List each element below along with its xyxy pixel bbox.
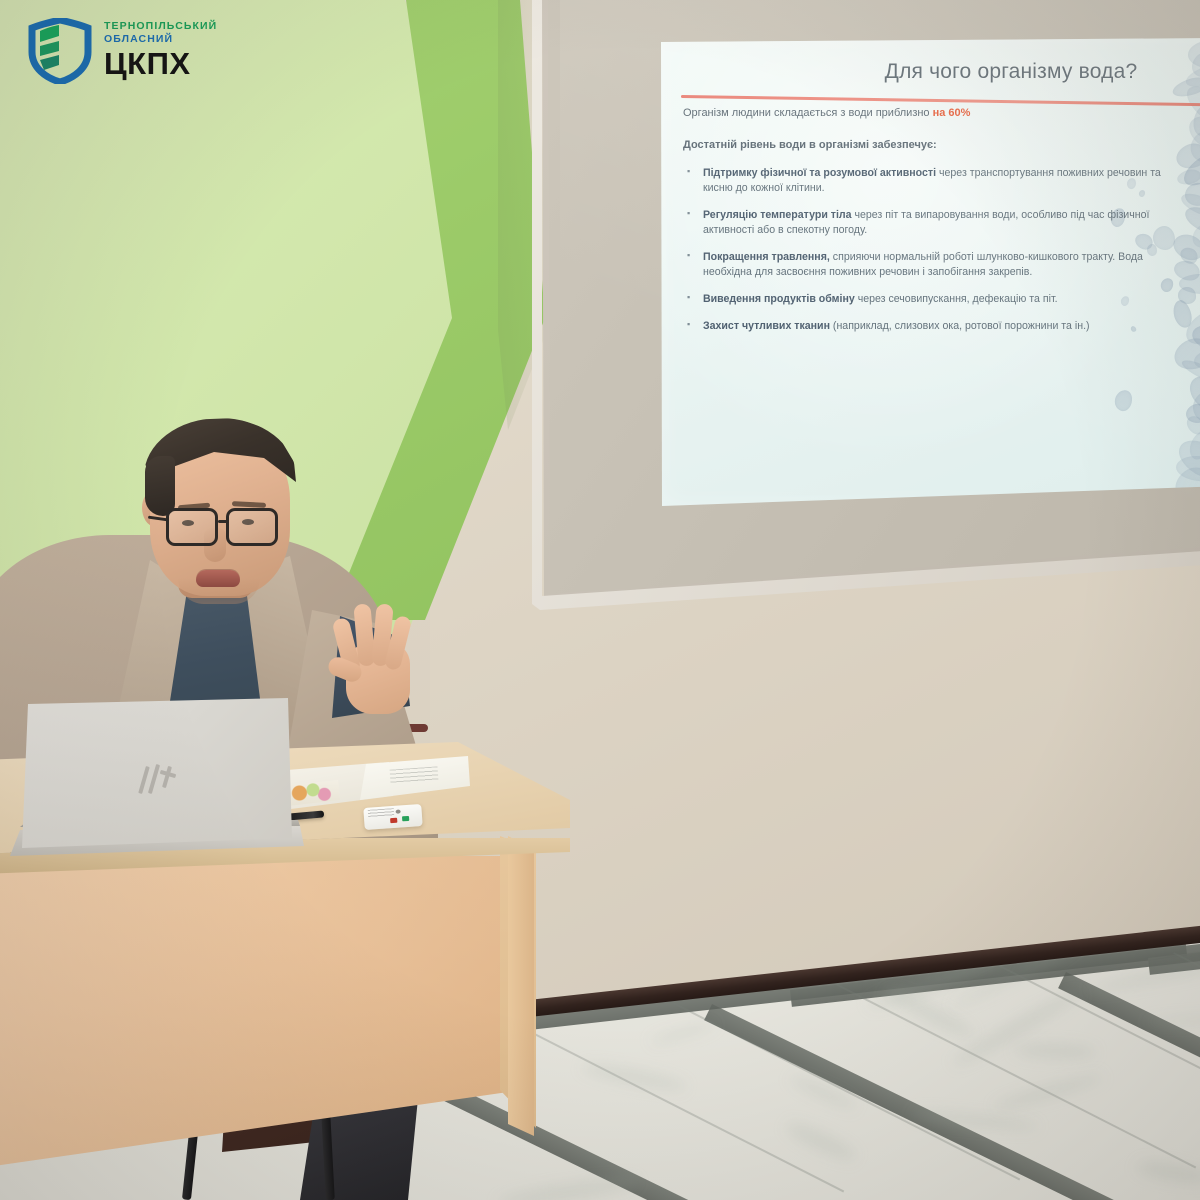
slide-divider: [681, 95, 1200, 107]
water-droplet: [1182, 180, 1200, 208]
slide-bullet-text: через сечовипускання, дефекацію та піт.: [855, 293, 1058, 305]
water-droplet: [1191, 103, 1200, 137]
slide-bullet: Захист чутливих тканин (наприклад, слизо…: [683, 319, 1183, 334]
desk-leg-right: [508, 836, 538, 1156]
presentation-slide: Для чого організму вода? Організм людини…: [661, 38, 1200, 506]
slide-lead-highlight: на 60%: [933, 107, 971, 119]
water-droplet: [1192, 350, 1200, 370]
logo-text: ТЕРНОПІЛЬСЬКИЙ ОБЛАСНИЙ ЦКПХ: [104, 20, 217, 80]
water-droplet: [1189, 322, 1200, 352]
shield-leaf-icon: [28, 18, 92, 84]
marble-vein: [783, 1118, 859, 1165]
hp-logo-icon: [140, 762, 180, 796]
marble-vein: [1135, 1158, 1200, 1187]
mouth: [196, 570, 240, 587]
marble-vein: [581, 1060, 688, 1093]
logo-line-3: ЦКПХ: [104, 48, 217, 80]
slide-bullet-emphasis: Підтримку фізичної та розумової активнос…: [703, 167, 936, 179]
water-droplet: [1182, 202, 1200, 237]
clicker-button-dot[interactable]: [396, 809, 401, 813]
slide-bullet-emphasis: Покращення травлення,: [703, 251, 830, 263]
slide-lead-prefix: Організм людини складається з води прибл…: [683, 107, 933, 119]
marble-vein: [1014, 1042, 1096, 1059]
clicker-button-green[interactable]: [402, 816, 409, 821]
glasses-bridge: [218, 520, 228, 523]
lens-right: [226, 508, 278, 546]
slide-bullet: Регуляцію температури тіла через піт та …: [683, 208, 1183, 238]
marble-vein: [649, 1021, 717, 1047]
water-droplet: [1179, 356, 1200, 386]
water-droplet: [1187, 385, 1200, 429]
eyeglasses-icon: [160, 508, 288, 550]
slide-title: Для чого організму вода?: [811, 60, 1200, 84]
logo-line-1: ТЕРНОПІЛЬСЬКИЙ: [104, 20, 217, 33]
logo-line-2: ОБЛАСНИЙ: [104, 33, 217, 46]
slide-bullet-emphasis: Регуляцію температури тіла: [703, 209, 852, 221]
water-droplet: [1175, 454, 1200, 482]
slide-bullet: Виведення продуктів обміну через сечовип…: [683, 292, 1183, 307]
water-droplet: [1185, 428, 1200, 463]
water-droplet: [1184, 124, 1200, 169]
water-droplet: [1183, 370, 1200, 415]
water-droplet: [1188, 219, 1200, 251]
slide-bullet-emphasis: Захист чутливих тканин: [703, 320, 830, 332]
slide-lead-text: Організм людини складається з води прибл…: [683, 106, 1163, 120]
water-droplet: [1184, 412, 1200, 437]
water-droplet: [1172, 433, 1200, 484]
hair-side: [145, 456, 175, 516]
organization-logo: ТЕРНОПІЛЬСЬКИЙ ОБЛАСНИЙ ЦКПХ: [28, 14, 298, 88]
water-droplet: [1184, 402, 1200, 426]
floor-inlay-band: [704, 1004, 1200, 1200]
clicker-button-red[interactable]: [390, 818, 397, 823]
lens-left: [166, 508, 218, 546]
projection-screen: Для чого організму вода? Організм людини…: [528, 0, 1200, 615]
slide-subtitle: Достатній рівень води в організмі забезп…: [683, 139, 1163, 151]
slide-bullet-list: Підтримку фізичної та розумової активнос…: [683, 166, 1183, 346]
slide-bullet-text: (наприклад, слизових ока, ротової порожн…: [830, 320, 1090, 332]
slide-bullet: Підтримку фізичної та розумової активнос…: [683, 166, 1183, 196]
marble-vein: [993, 1071, 1105, 1113]
raised-hand: [330, 598, 422, 716]
slide-bullet-emphasis: Виведення продуктів обміну: [703, 293, 855, 305]
slide-bullet: Покращення травлення, сприяючи нормальні…: [683, 250, 1183, 280]
photo-scene: Для чого організму вода? Організм людини…: [0, 0, 1200, 1200]
water-droplet: [1183, 110, 1200, 153]
water-droplet: [1112, 388, 1135, 413]
